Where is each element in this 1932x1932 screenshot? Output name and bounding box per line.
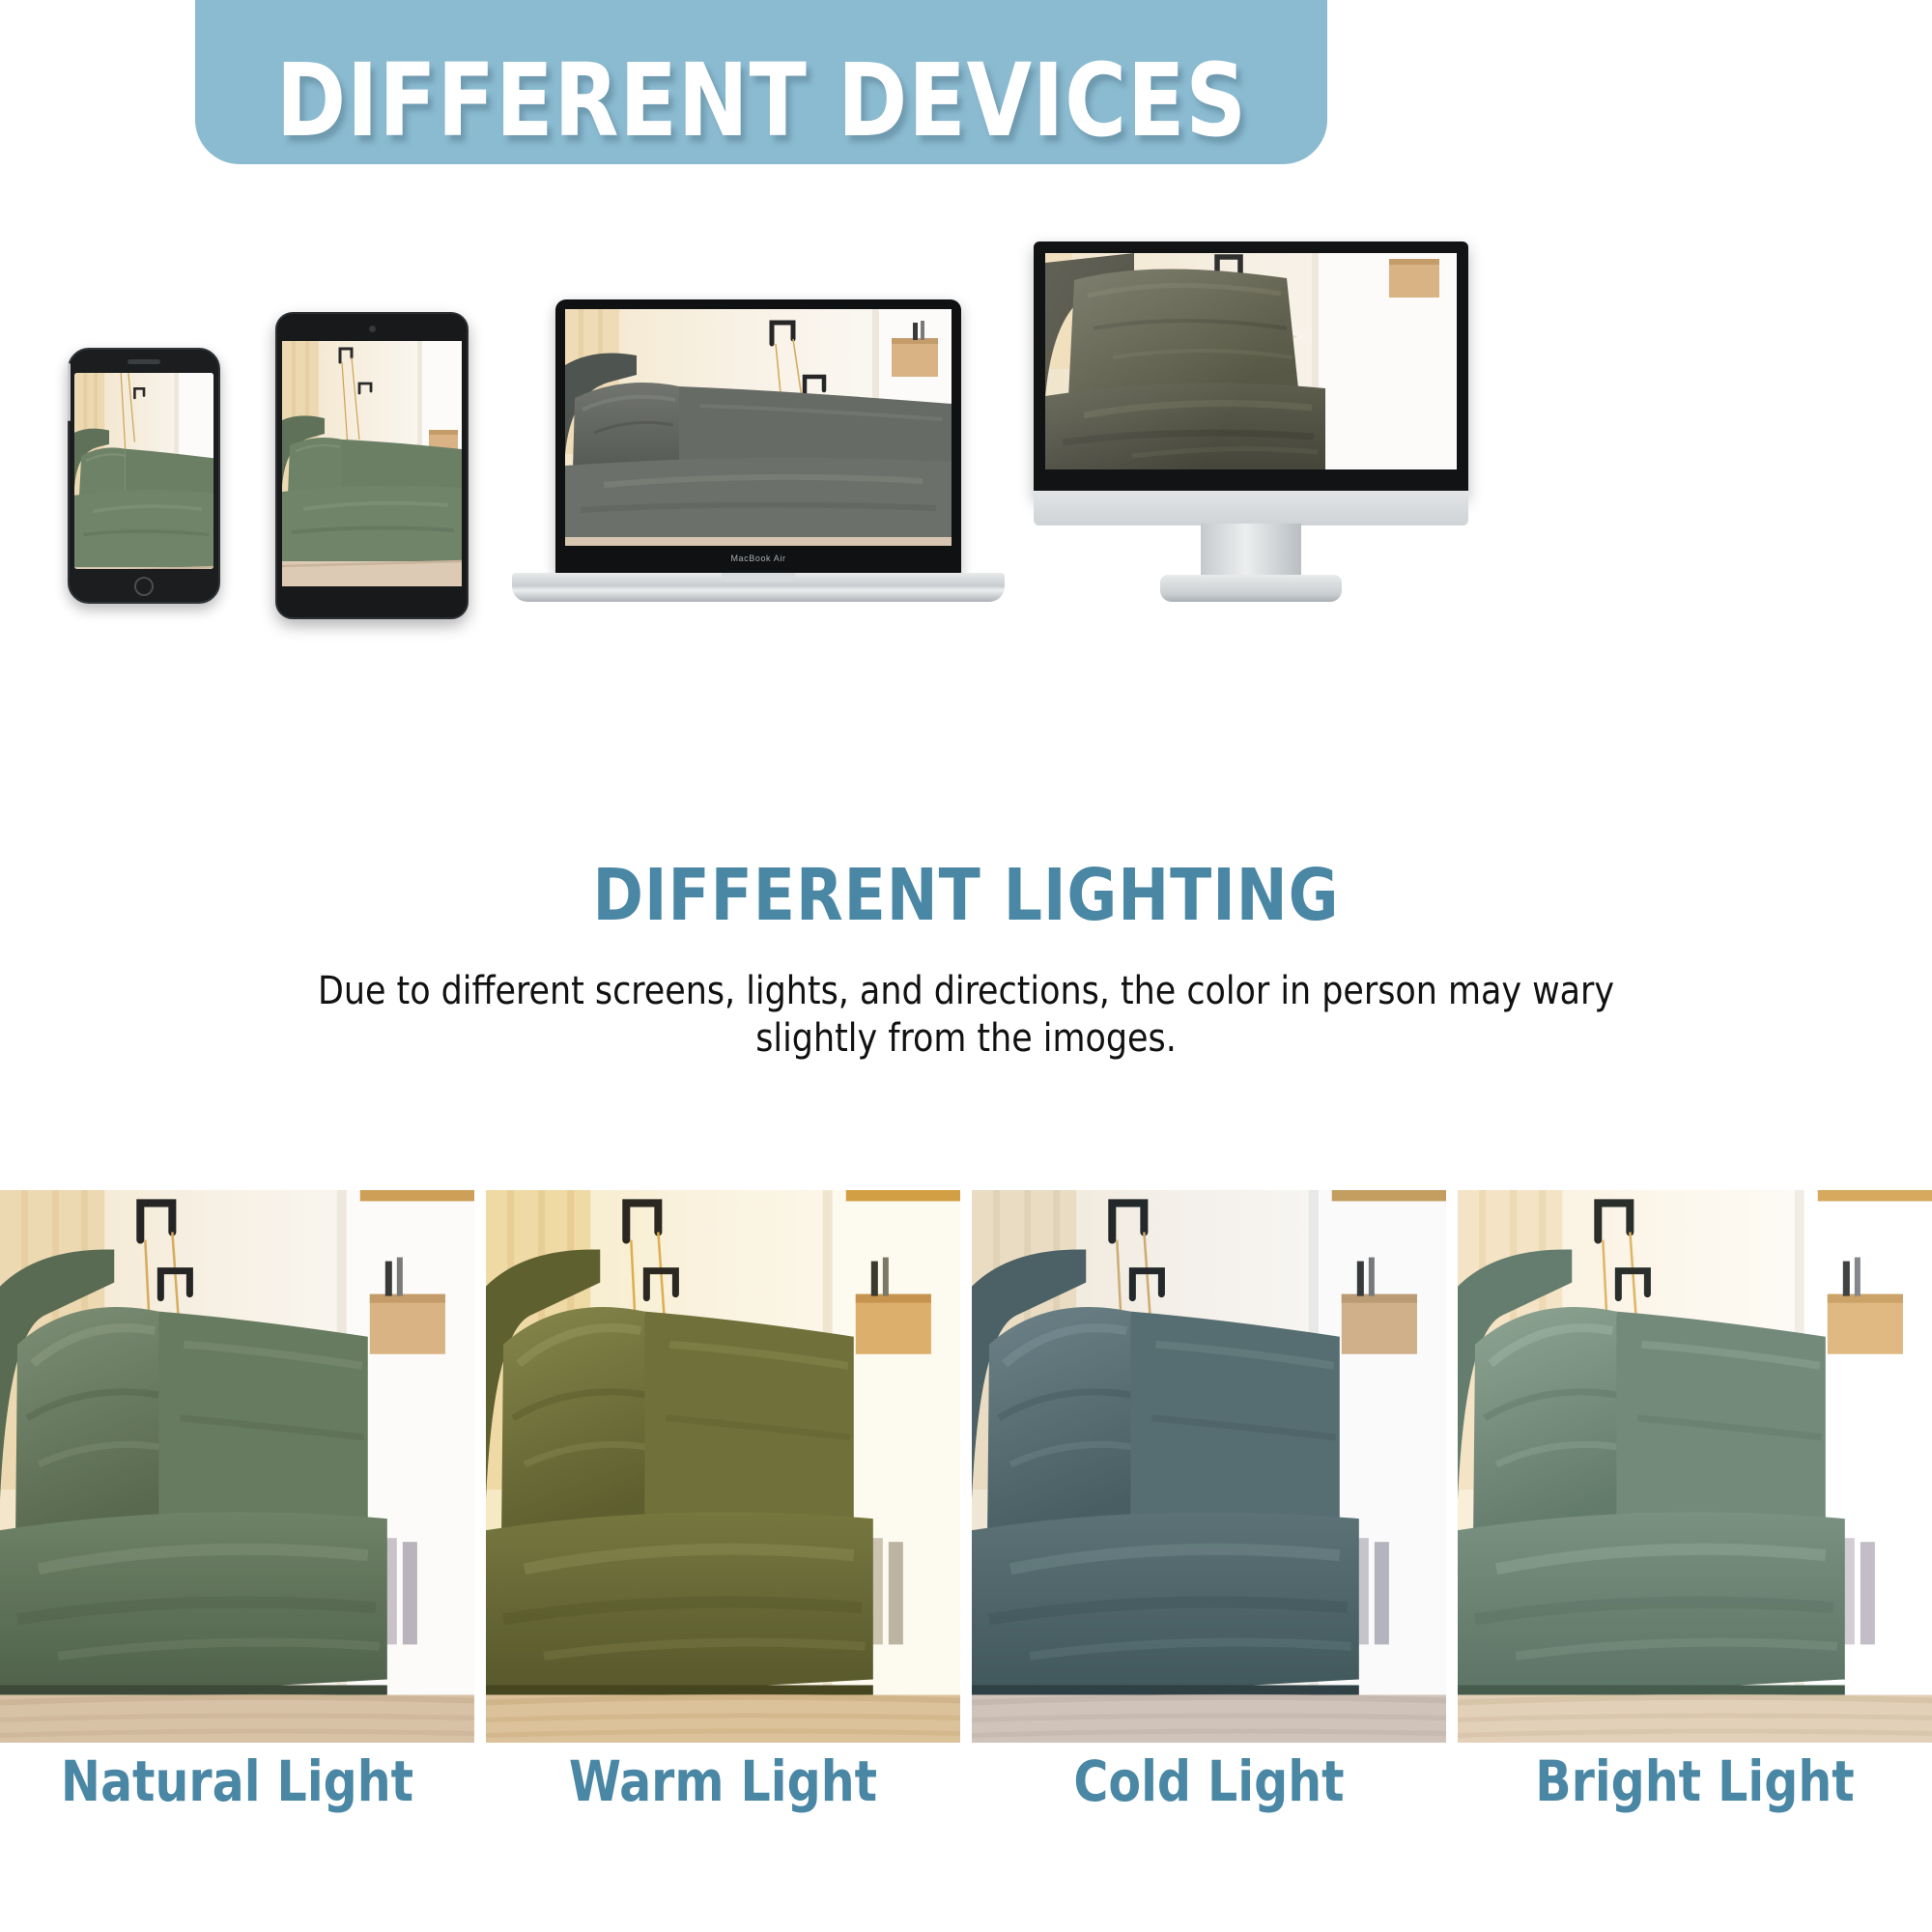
phone-speaker-icon bbox=[128, 359, 160, 364]
lighting-subtitle-line2: slightly from the imoges. bbox=[235, 1015, 1696, 1063]
label-cold-light: Cold Light bbox=[986, 1748, 1433, 1826]
monitor-stand-base bbox=[1160, 575, 1342, 602]
device-phone bbox=[68, 348, 220, 604]
lighting-comparison-panels bbox=[0, 1190, 1932, 1743]
lighting-panel-natural[interactable] bbox=[0, 1190, 474, 1743]
sofa-scene-natural bbox=[0, 1190, 474, 1743]
monitor-screen bbox=[1045, 253, 1457, 469]
lighting-panel-warm[interactable] bbox=[486, 1190, 960, 1743]
tablet-camera-icon bbox=[369, 326, 376, 332]
sofa-scene-monitor bbox=[1045, 253, 1457, 469]
lighting-panel-bright[interactable] bbox=[1458, 1190, 1932, 1743]
device-mockup-row: MacBook Air bbox=[0, 227, 1932, 633]
lighting-panel-labels: Natural Light Warm Light Cold Light Brig… bbox=[0, 1748, 1932, 1826]
laptop-brand-label: MacBook Air bbox=[555, 554, 961, 563]
different-devices-banner: DIFFERENT DEVICES bbox=[195, 0, 1327, 164]
phone-home-button[interactable] bbox=[134, 577, 154, 596]
label-warm-light: Warm Light bbox=[500, 1748, 947, 1826]
device-tablet bbox=[275, 312, 469, 619]
sofa-scene-phone bbox=[74, 373, 213, 569]
laptop-screen bbox=[565, 309, 952, 546]
lighting-subtitle-line1: Due to different screens, lights, and di… bbox=[235, 968, 1696, 1015]
label-bright-light: Bright Light bbox=[1472, 1748, 1918, 1826]
sofa-scene-tablet bbox=[282, 341, 462, 586]
laptop-notch bbox=[722, 573, 795, 582]
monitor-stand-neck bbox=[1201, 524, 1301, 580]
sofa-scene-bright bbox=[1458, 1190, 1932, 1743]
monitor-chin bbox=[1034, 491, 1468, 526]
banner-title: DIFFERENT DEVICES bbox=[275, 50, 1246, 151]
device-laptop: MacBook Air bbox=[512, 299, 1005, 826]
lighting-panel-cold[interactable] bbox=[972, 1190, 1446, 1743]
sofa-scene-cold bbox=[972, 1190, 1446, 1743]
device-monitor bbox=[1034, 241, 1468, 618]
sofa-scene-warm bbox=[486, 1190, 960, 1743]
phone-screen bbox=[74, 373, 213, 569]
sofa-scene-laptop bbox=[565, 309, 952, 546]
lighting-subtitle: Due to different screens, lights, and di… bbox=[235, 968, 1696, 1063]
label-natural-light: Natural Light bbox=[14, 1748, 461, 1826]
different-lighting-heading: DIFFERENT LIGHTING bbox=[48, 854, 1884, 937]
tablet-screen bbox=[282, 341, 462, 586]
